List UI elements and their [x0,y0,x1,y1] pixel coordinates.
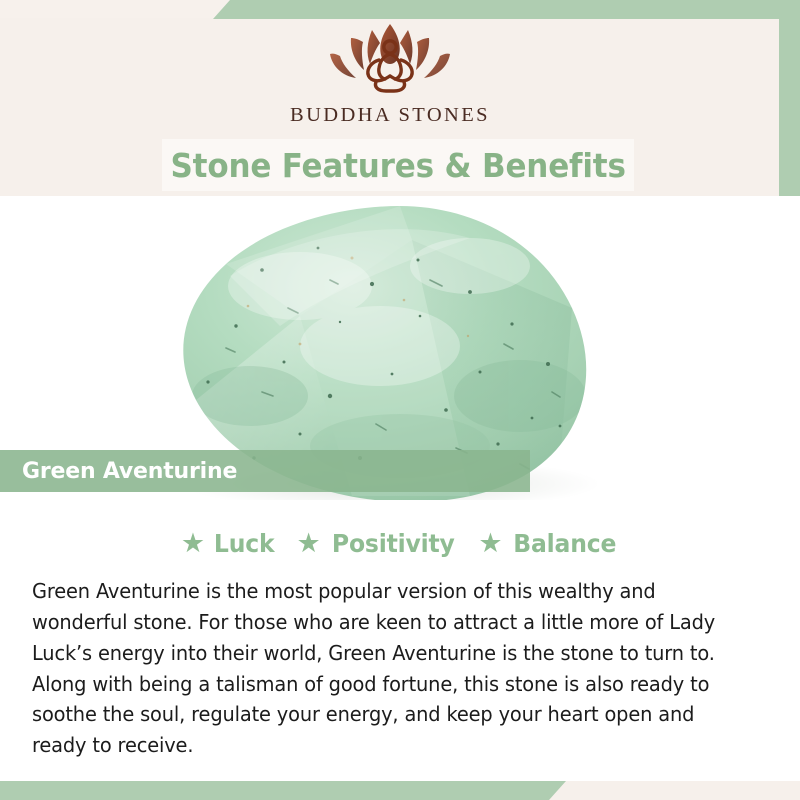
brand-logo: BUDDHA STONES [0,16,780,138]
star-icon: ★ [181,530,205,557]
keyword-item: ★ Balance [478,529,619,558]
keyword-item: ★ Luck [181,529,277,558]
keyword-label: Positivity [332,529,455,558]
page-title: Stone Features & Benefits [170,146,625,185]
decor-bottom-green-band [0,781,566,800]
status-badge: Green Aventurine [0,450,530,492]
stone-name-label: Green Aventurine [22,459,237,484]
keyword-label: Luck [214,529,275,558]
star-icon: ★ [478,530,502,557]
keyword-list: ★ Luck ★ Positivity ★ Balance [0,500,800,570]
star-icon: ★ [297,530,321,557]
brand-name: BUDDHA STONES [290,104,490,127]
keyword-item: ★ Positivity [297,529,459,558]
stone-info-poster: BUDDHA STONES Stone Features & Benefits [0,0,800,800]
keyword-label: Balance [513,529,616,558]
content-section: ★ Luck ★ Positivity ★ Balance Green Aven… [0,500,800,781]
stone-description: Green Aventurine is the most popular ver… [32,576,739,761]
title-banner: Stone Features & Benefits [162,139,634,191]
lotus-meditating-figure-logo-icon [306,16,474,102]
